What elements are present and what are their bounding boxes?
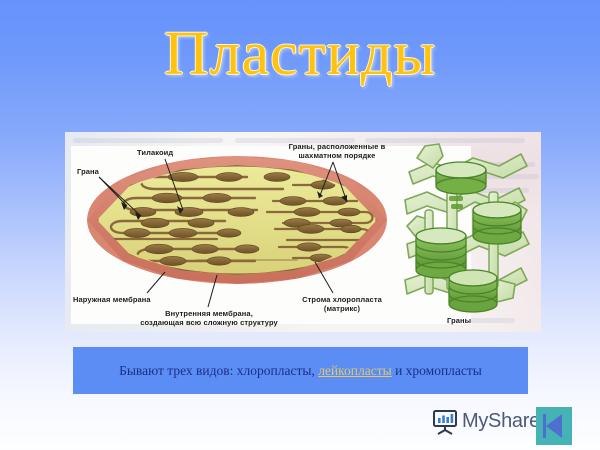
caption-prefix: Бывают трех видов: хлоропласты, (119, 363, 318, 378)
caption-suffix: и хромопласты (392, 363, 482, 378)
myshared-logo[interactable]: MyShared (432, 405, 592, 447)
label-grany: Граны (447, 316, 471, 325)
label-inner-membrane: Внутренняя мембрана, создающая всю сложн… (121, 309, 297, 327)
caption-text: Бывают трех видов: хлоропласты, лейкопла… (119, 363, 482, 379)
presentation-slide: Пластиды (0, 0, 600, 450)
presentation-board-icon (432, 409, 458, 435)
label-stroma: Строма хлоропласта (матрикс) (293, 295, 391, 313)
label-grana: Грана (77, 167, 99, 176)
thylakoid-network (97, 165, 377, 275)
leukoplasts-link[interactable]: лейкопласты (318, 363, 392, 378)
caption-box: Бывают трех видов: хлоропласты, лейкопла… (73, 347, 528, 394)
slide-title: Пластиды (0, 18, 600, 90)
chloroplast-figure-panel: Грана Тилакоид Граны, расположенные в ша… (65, 132, 541, 332)
label-outer-membrane: Наружная мембрана (73, 295, 151, 304)
play-back-badge[interactable] (536, 407, 572, 445)
play-back-arrow-icon (536, 407, 572, 445)
label-checkerboard-grana: Граны, расположенные в шахматном порядке (273, 142, 401, 160)
granum-3d-illustration (403, 140, 531, 316)
label-thylakoid: Тилакоид (137, 148, 173, 157)
chloroplast-cross-section (87, 156, 387, 284)
